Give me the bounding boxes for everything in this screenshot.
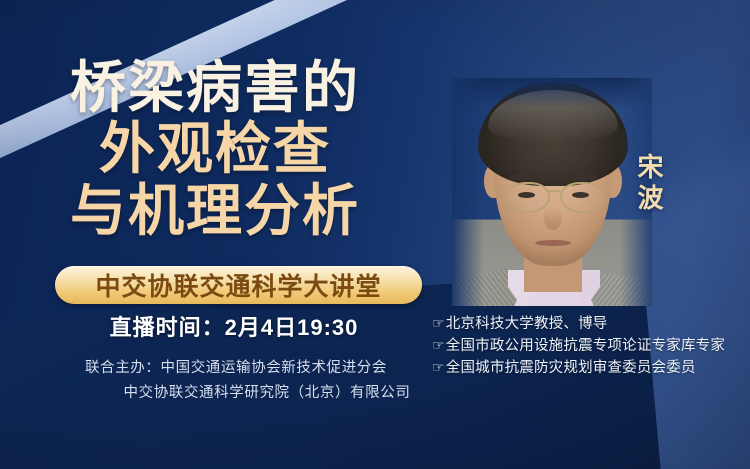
- credential-item: ☞ 北京科技大学教授、博导: [432, 313, 748, 335]
- speaker-name-char-2: 波: [628, 183, 674, 214]
- series-banner: 中交协联交通科学大讲堂: [55, 266, 422, 304]
- title-line-1: 桥梁病害的: [0, 58, 430, 117]
- credential-text: 全国市政公用设施抗震专项论证专家库专家: [446, 335, 725, 357]
- title-line-2: 外观检查: [0, 119, 430, 178]
- pointing-hand-icon: ☞: [432, 357, 445, 378]
- series-banner-label: 中交协联交通科学大讲堂: [95, 267, 381, 303]
- organizer-line-1: 联合主办：中国交通运输协会新技术促进分会: [0, 356, 472, 381]
- speaker-name: 宋 波: [628, 152, 674, 213]
- credential-text: 全国城市抗震防灾规划审查委员会委员: [446, 357, 696, 379]
- speaker-credentials: ☞ 北京科技大学教授、博导 ☞ 全国市政公用设施抗震专项论证专家库专家 ☞ 全国…: [432, 313, 748, 379]
- live-time: 直播时间：2月4日19:30: [0, 310, 468, 342]
- credential-item: ☞ 全国城市抗震防灾规划审查委员会委员: [432, 357, 748, 379]
- speaker-name-char-1: 宋: [628, 152, 674, 183]
- pointing-hand-icon: ☞: [432, 313, 445, 334]
- credential-item: ☞ 全国市政公用设施抗震专项论证专家库专家: [432, 335, 748, 357]
- credential-text: 北京科技大学教授、博导: [446, 313, 608, 335]
- organizer-line-2: 中交协联交通科学研究院（北京）有限公司: [0, 381, 472, 406]
- organizers: 联合主办：中国交通运输协会新技术促进分会 中交协联交通科学研究院（北京）有限公司: [0, 356, 472, 406]
- poster-title: 桥梁病害的 外观检查 与机理分析: [0, 58, 430, 240]
- webinar-poster: 桥梁病害的 外观检查 与机理分析 中交协联交通科学大讲堂 直播时间：2月4日19…: [0, 0, 750, 469]
- title-line-3: 与机理分析: [0, 181, 430, 240]
- pointing-hand-icon: ☞: [432, 335, 445, 356]
